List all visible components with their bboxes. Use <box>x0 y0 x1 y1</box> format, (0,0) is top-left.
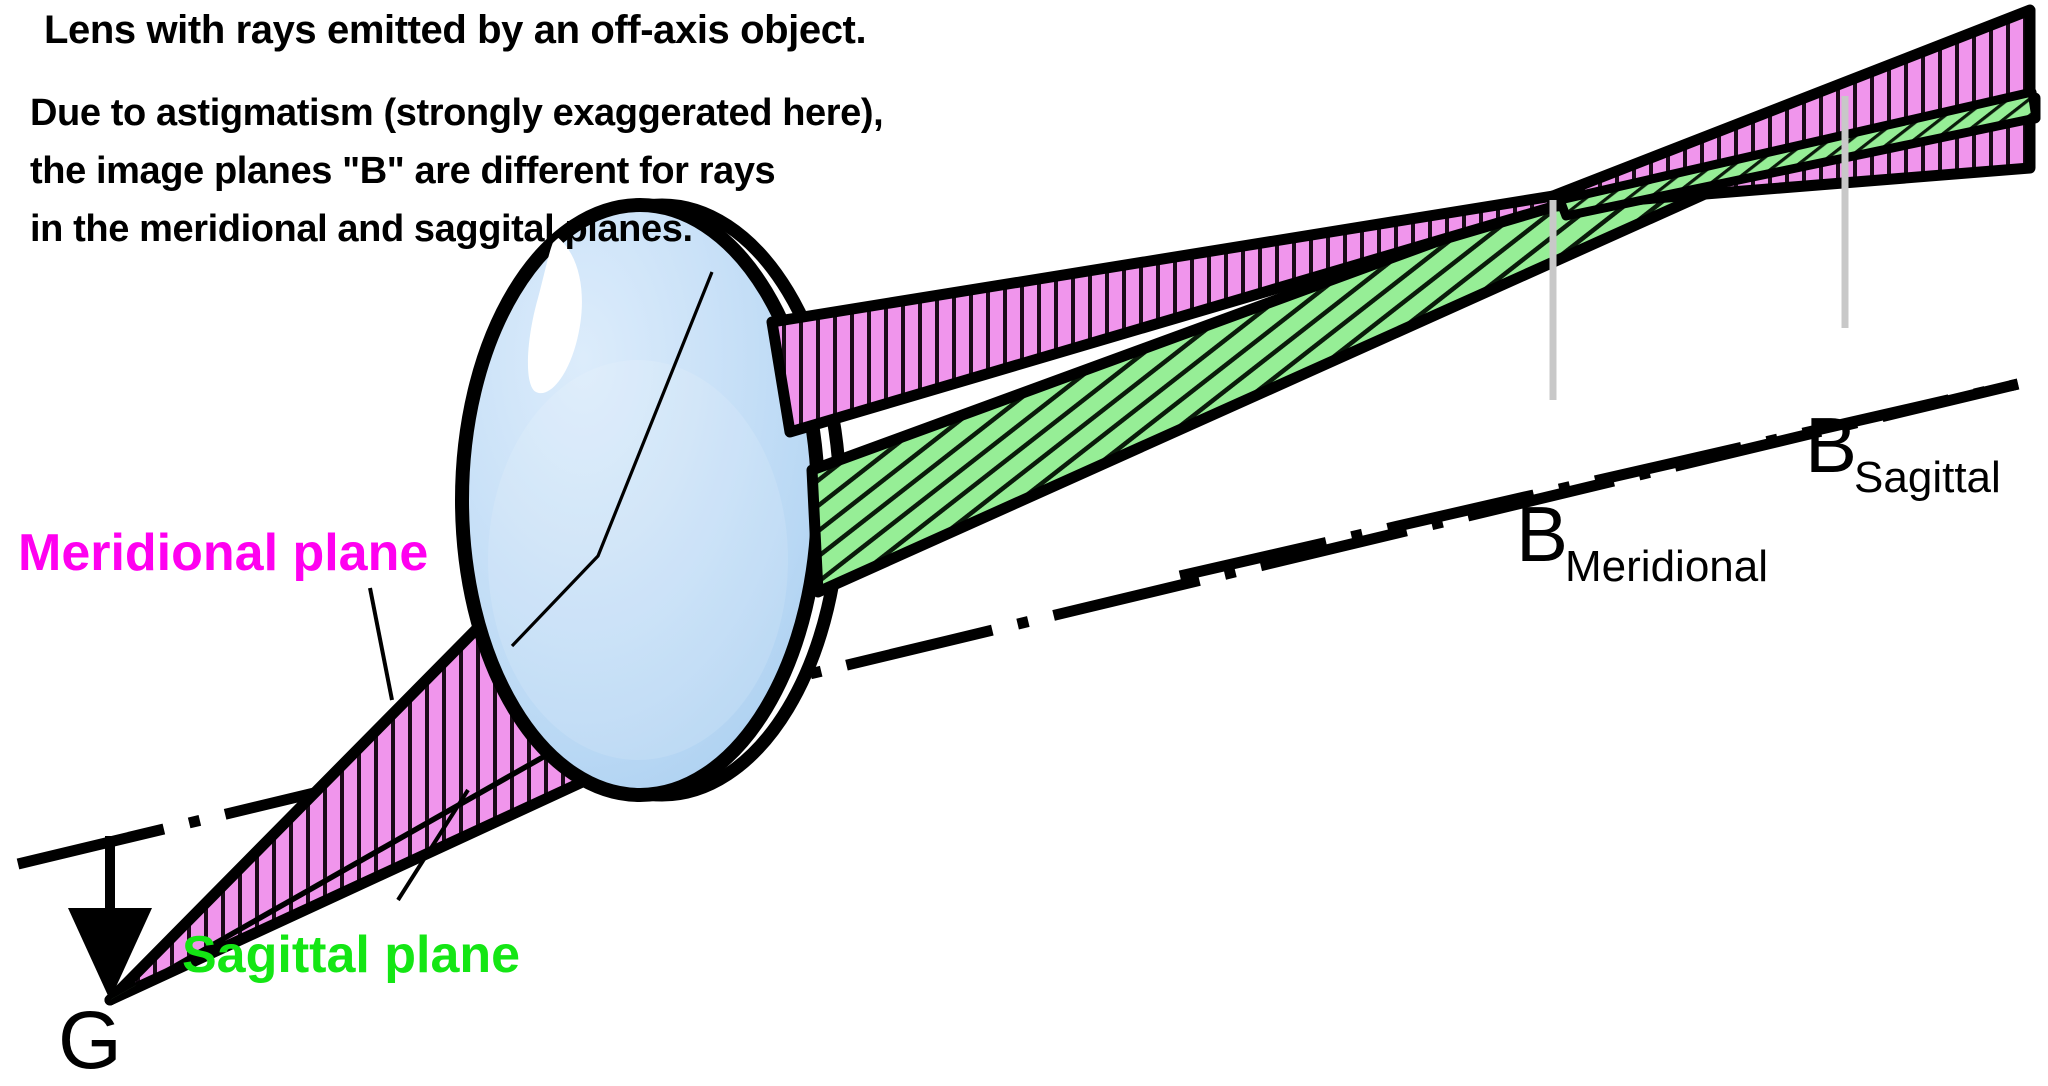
focus-meridional-label: BMeridional <box>1516 495 1771 573</box>
sagittal-plane-label: Sagittal plane <box>182 925 520 985</box>
meridional-beam-fan-right <box>772 10 2030 432</box>
focus-sagittal-label: BSagittal <box>1805 406 2004 484</box>
meridional-plane-label: Meridional plane <box>18 523 428 583</box>
focus-meridional-symbol: B <box>1516 490 1568 578</box>
figure-canvas: Lens with rays emitted by an off-axis ob… <box>0 0 2048 1082</box>
object-point-label: G <box>58 1000 122 1082</box>
caption-body: Due to astigmatism (strongly exaggerated… <box>30 84 883 258</box>
focus-meridional-subscript: Meridional <box>1565 542 1768 591</box>
focus-sagittal-subscript: Sagittal <box>1854 453 2001 502</box>
converging-lens <box>462 205 840 795</box>
caption-title: Lens with rays emitted by an off-axis ob… <box>44 8 866 53</box>
meridional-label-leader <box>370 588 392 700</box>
focus-sagittal-symbol: B <box>1805 401 1857 489</box>
